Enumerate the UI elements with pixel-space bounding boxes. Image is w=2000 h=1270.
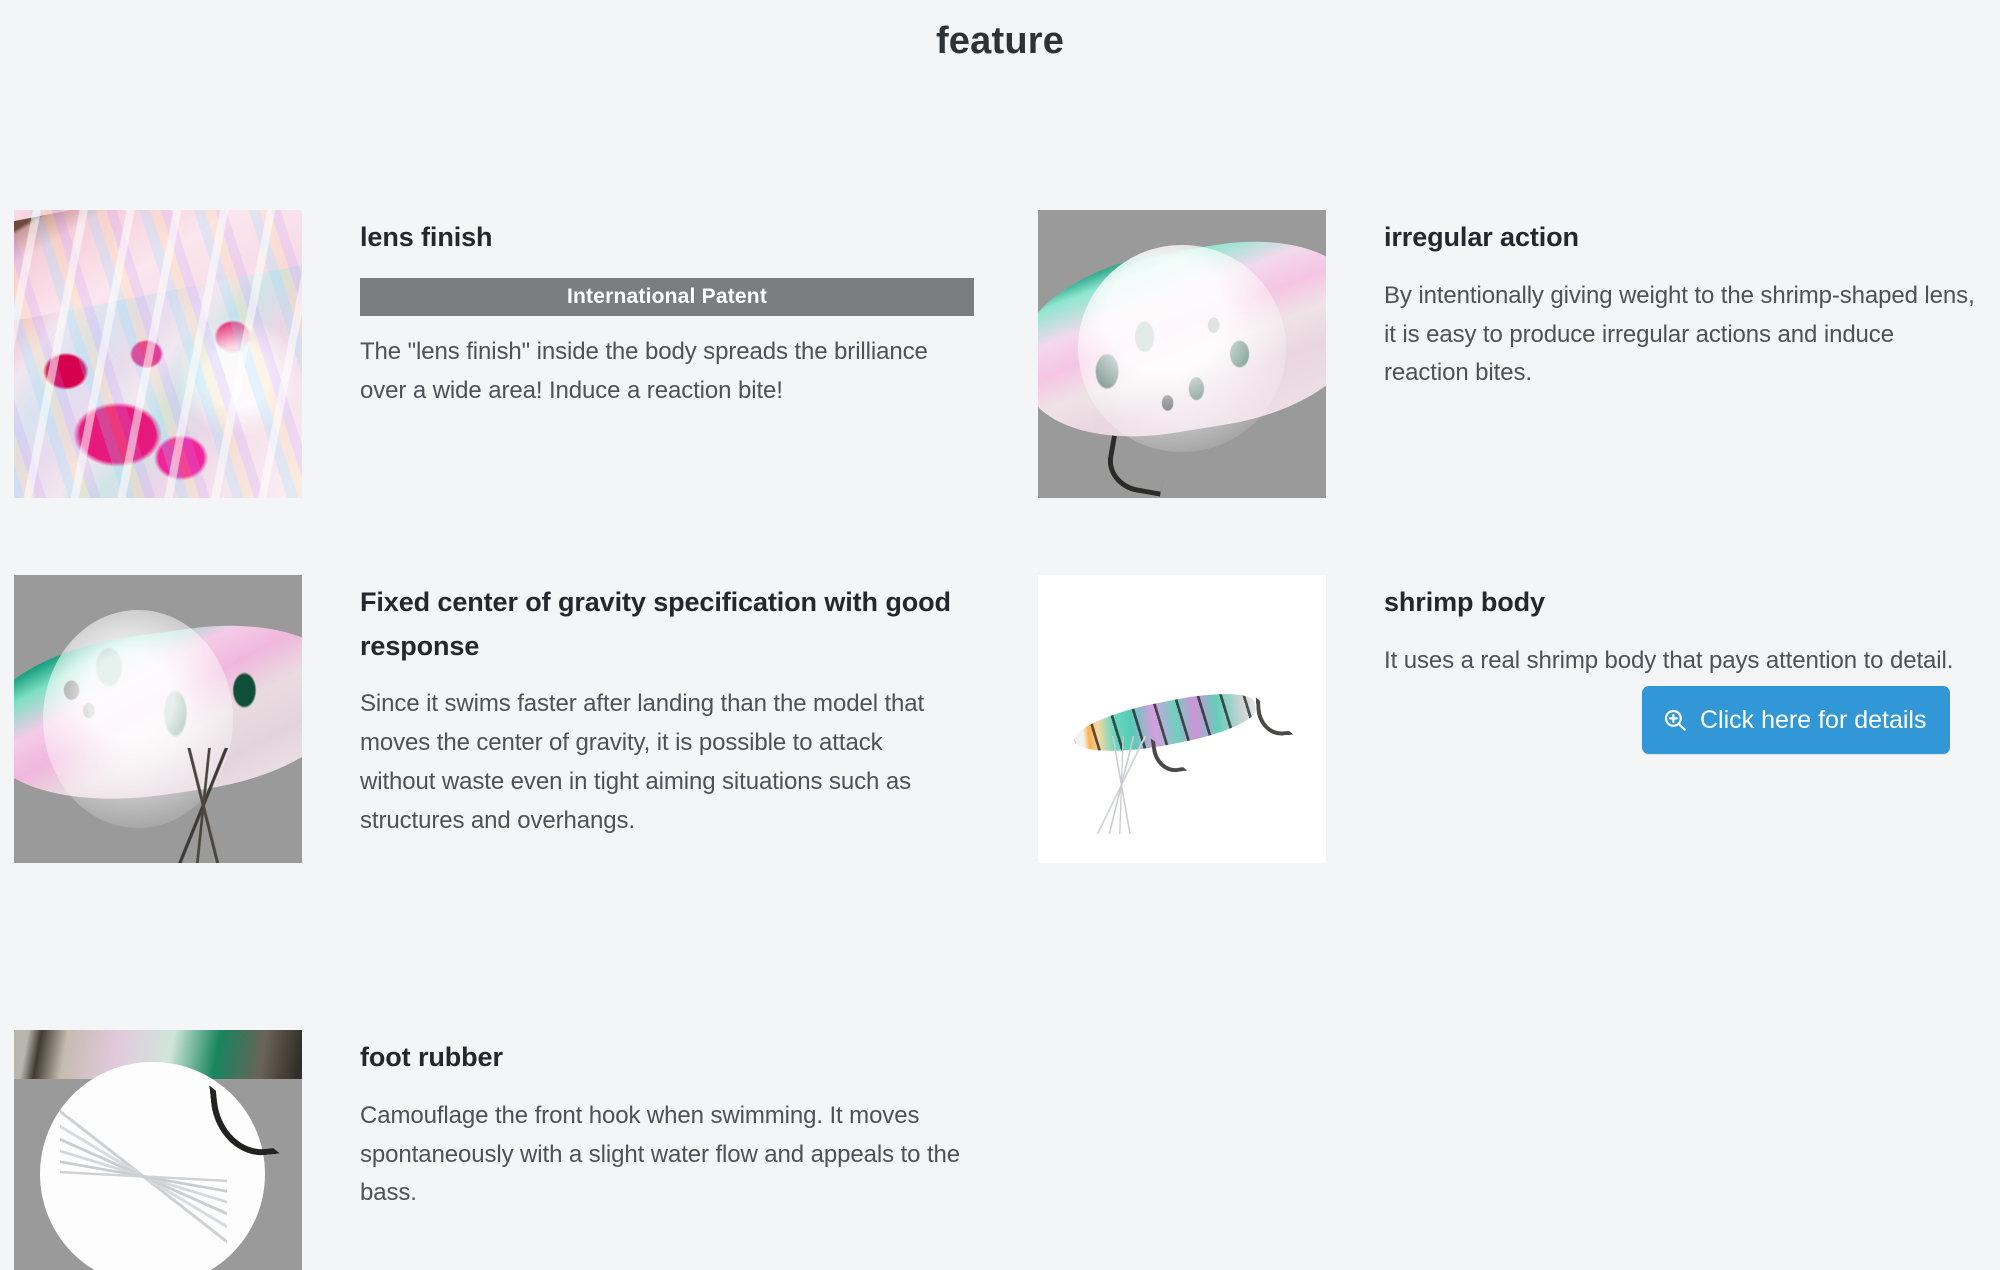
lens-finish-title: lens finish: [360, 216, 974, 260]
feature-page: feature lens finish International Patent…: [0, 0, 2000, 1270]
whiskers-shape: [152, 748, 256, 863]
lens-highlight-circle: [1078, 245, 1285, 452]
feature-card-fixed-center-of-gravity: Fixed center of gravity specification wi…: [14, 575, 974, 863]
foot-rubber-image: [14, 1030, 302, 1270]
foot-rubber-title: foot rubber: [360, 1036, 974, 1080]
foot-rubber-text: Camouflage the front hook when swimming.…: [360, 1097, 974, 1214]
fixed-center-of-gravity-title: Fixed center of gravity specification wi…: [360, 581, 974, 668]
zoom-in-icon: [1662, 707, 1688, 733]
irregular-action-text: By intentionally giving weight to the sh…: [1384, 277, 1984, 394]
rear-hook-shape: [1256, 695, 1293, 738]
page-title: feature: [0, 0, 2000, 70]
fixed-center-of-gravity-text: Since it swims faster after landing than…: [360, 685, 960, 841]
feature-card-lens-finish: lens finish International Patent The "le…: [14, 210, 974, 498]
lens-finish-image: [14, 210, 302, 498]
feature-card-irregular-action: irregular action By intentionally giving…: [1038, 210, 1988, 498]
irregular-action-image: [1038, 210, 1326, 498]
shrimp-body-body: shrimp body It uses a real shrimp body t…: [1326, 575, 1988, 681]
fixed-center-of-gravity-body: Fixed center of gravity specification wi…: [302, 575, 974, 841]
international-patent-badge: International Patent: [360, 278, 974, 316]
details-button-label: Click here for details: [1700, 706, 1926, 735]
shrimp-body-image: [1038, 575, 1326, 863]
click-here-for-details-button[interactable]: Click here for details: [1642, 686, 1950, 754]
irregular-action-body: irregular action By intentionally giving…: [1326, 210, 1988, 393]
foot-rubber-strands: [60, 1070, 227, 1270]
foot-rubber-body: foot rubber Camouflage the front hook wh…: [302, 1030, 974, 1213]
lens-finish-text: The "lens finish" inside the body spread…: [360, 333, 974, 411]
fixed-center-of-gravity-photo: [14, 575, 302, 863]
fixed-center-of-gravity-image: [14, 575, 302, 863]
shrimp-body-text: It uses a real shrimp body that pays att…: [1384, 642, 1984, 681]
irregular-action-title: irregular action: [1384, 216, 1988, 260]
foot-rubber-photo: [14, 1030, 302, 1270]
lens-finish-body: lens finish International Patent The "le…: [302, 210, 974, 410]
irregular-action-photo: [1038, 210, 1326, 498]
lens-finish-photo: [14, 210, 302, 498]
shrimp-body-title: shrimp body: [1384, 581, 1988, 625]
feature-card-foot-rubber: foot rubber Camouflage the front hook wh…: [14, 1030, 974, 1270]
shrimp-body-photo: [1038, 575, 1326, 863]
